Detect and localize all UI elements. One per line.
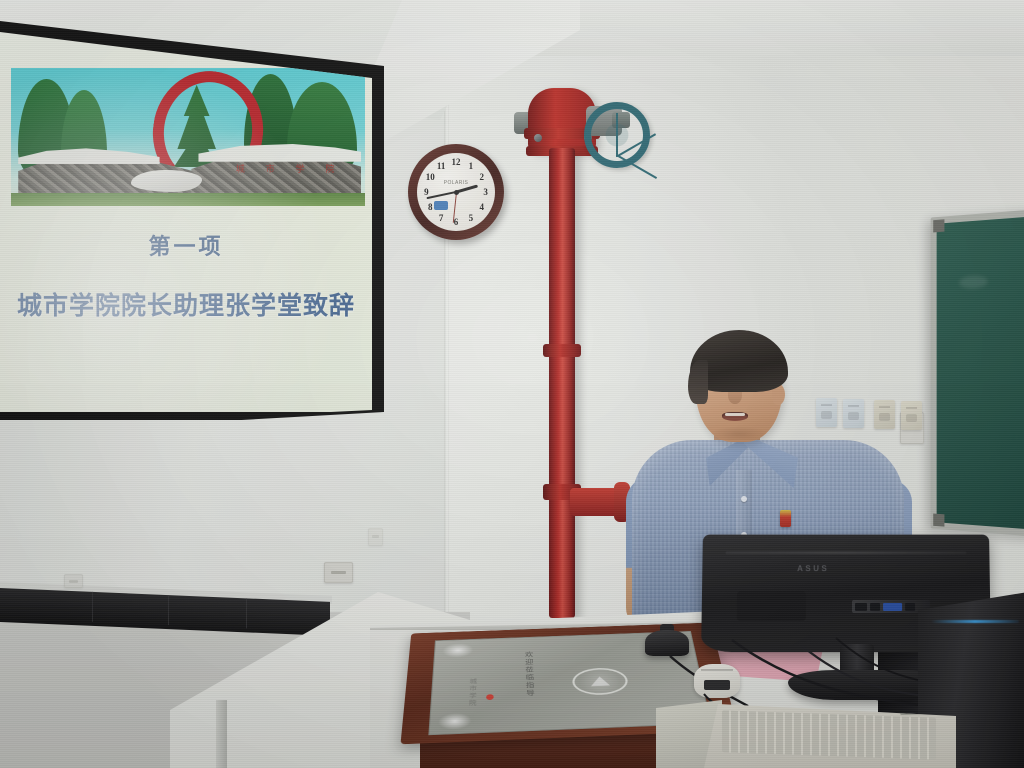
wall-clock: 12 1 2 3 4 5 6 7 8 9 10 11 POLARIS [408, 144, 504, 240]
clock-numeral: 12 [452, 157, 461, 167]
room-photo: 城 市 学 院 第一项 城市学院院长助理张学堂致辞 12 1 2 3 4 5 6… [0, 0, 1024, 768]
wall-outlet[interactable] [64, 574, 83, 588]
clock-numeral: 7 [439, 213, 444, 223]
lectern-text-primary: 欢迎莅临指导 [523, 651, 536, 698]
slide-banner-photo: 城 市 学 院 [11, 68, 364, 206]
tower-power-led [931, 620, 1019, 623]
clock-numeral: 9 [424, 187, 429, 197]
clock-center-pin [454, 190, 459, 195]
clock-numeral: 4 [479, 202, 484, 212]
clock-numeral: 5 [469, 213, 474, 223]
university-crest [571, 667, 629, 696]
clock-hour-hand [456, 184, 478, 193]
pipe-collar [543, 344, 581, 357]
hair-sideburn [688, 360, 708, 404]
slide-title: 第一项 [0, 229, 372, 261]
clock-numeral: 1 [469, 161, 474, 171]
lectern-red-mark [487, 694, 495, 700]
clock-numeral: 3 [483, 187, 488, 197]
foreground-rock [131, 170, 202, 192]
clock-brand-mark: POLARIS [444, 180, 468, 186]
fire-standpipe [549, 148, 575, 618]
lapel-badge [780, 510, 791, 527]
wall-outlet[interactable] [368, 528, 383, 546]
monitor-vent [736, 591, 805, 622]
table-leg [216, 700, 227, 768]
clock-sticker [434, 201, 448, 210]
mouth [722, 412, 748, 421]
grass-strip [11, 193, 364, 205]
monument-characters: 城 市 学 院 [236, 162, 344, 175]
lectern-text-secondary: 城市学院 [467, 678, 478, 707]
clock-minute-hand [426, 191, 456, 199]
clock-numeral: 2 [479, 172, 484, 182]
clock-numeral: 6 [454, 217, 459, 227]
presentation-slide: 城 市 学 院 第一项 城市学院院长助理张学堂致辞 [0, 30, 372, 412]
monitor-brand-mark: ASUS [797, 564, 829, 573]
shirt-button [741, 496, 747, 502]
clock-face: 12 1 2 3 4 5 6 7 8 9 10 11 POLARIS [417, 153, 495, 231]
clock-numeral: 10 [426, 172, 435, 182]
valve-handwheel[interactable] [584, 102, 650, 168]
chin-shadow [710, 426, 768, 442]
pipe-bolt [534, 134, 542, 142]
clock-numeral: 8 [428, 202, 433, 212]
slide-subtitle: 城市学院院长助理张学堂致辞 [0, 286, 372, 322]
clock-numeral: 11 [437, 161, 446, 171]
wall-outlet[interactable] [324, 562, 353, 583]
projection-screen: 城 市 学 院 第一项 城市学院院长助理张学堂致辞 [0, 30, 372, 412]
green-chalkboard [931, 208, 1024, 538]
